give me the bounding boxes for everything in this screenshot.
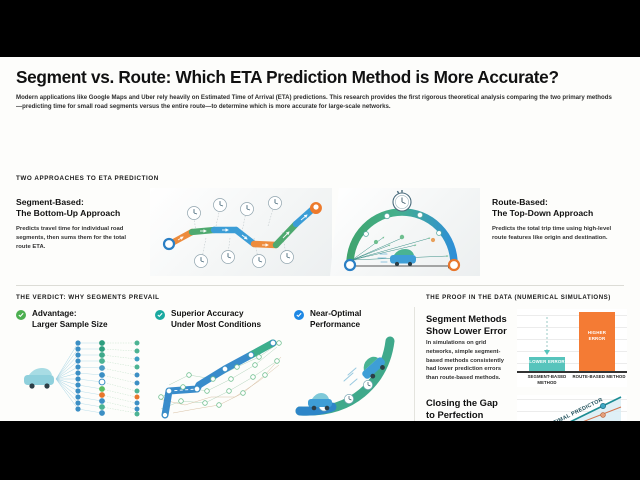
verdict-card-2-heading-line1: Superior Accuracy <box>171 309 261 320</box>
curved-road-cars-illustration <box>294 335 425 419</box>
page-title: Segment vs. Route: Which ETA Prediction … <box>16 67 628 88</box>
section-label-approaches: TWO APPROACHES TO ETA PREDICTION <box>16 175 159 182</box>
verdict-card-sample-size: Advantage: Larger Sample Size <box>16 309 147 421</box>
proof-block-2-heading-line1: Closing the Gap <box>426 397 522 409</box>
segment-approach-heading: Segment-Based: The Bottom-Up Approach <box>16 197 146 219</box>
page-subtitle: Modern applications like Google Maps and… <box>16 93 616 112</box>
proof-block-2-heading: Closing the Gap to Perfection <box>426 397 522 421</box>
letterbox-top <box>0 0 640 57</box>
path-through-network-illustration <box>155 335 286 419</box>
bar-chart-prediction-error: LOWER ERROR HIGHER ERROR SEGMENT-BASED M… <box>517 309 627 387</box>
line-chart-closing-the-gap: OPTIMAL PREDICTOR SEGMENT-BASED METHOD R… <box>517 395 627 421</box>
proof-block-1-heading-line1: Segment Methods <box>426 313 522 325</box>
car-icon <box>24 368 54 389</box>
bar-tick-route: ROUTE-BASED METHOD <box>571 374 627 380</box>
verdict-card-1-heading: Advantage: Larger Sample Size <box>32 309 108 330</box>
letterbox-bottom <box>0 421 640 480</box>
check-circle-icon <box>294 310 304 320</box>
verdict-card-3-heading-line1: Near-Optimal <box>310 309 361 320</box>
bar-tick-segment: SEGMENT-BASED METHOD <box>519 374 575 385</box>
verdict-card-2-heading: Superior Accuracy Under Most Conditions <box>171 309 261 330</box>
bar-chart-axis <box>517 371 627 373</box>
section-label-proof: THE PROOF IN THE DATA (NUMERICAL SIMULAT… <box>426 294 611 301</box>
check-circle-icon <box>16 310 26 320</box>
section-label-verdict: THE VERDICT: WHY SEGMENTS PREVAIL <box>16 294 160 301</box>
screenshot-stage: Segment vs. Route: Which ETA Prediction … <box>0 0 640 480</box>
route-approach-body: Predicts the total trip time using high-… <box>492 225 622 243</box>
proof-block-1-body: In simulations on grid networks, simple … <box>426 339 514 383</box>
proof-block-1-heading: Segment Methods Show Lower Error <box>426 313 522 337</box>
fan-out-network-illustration <box>16 335 147 419</box>
divider-vertical <box>414 307 415 421</box>
verdict-card-2-heading-line2: Under Most Conditions <box>171 320 261 331</box>
verdict-card-superior-accuracy: Superior Accuracy Under Most Conditions <box>155 309 286 421</box>
check-circle-icon <box>155 310 165 320</box>
segment-approach-illustration <box>150 188 332 276</box>
route-approach-heading-line2: The Top-Down Approach <box>492 208 632 219</box>
verdict-card-3-heading-line2: Performance <box>310 320 361 331</box>
segment-approach-body: Predicts travel time for individual road… <box>16 225 138 252</box>
verdict-card-1-heading-line1: Advantage: <box>32 309 108 320</box>
proof-block-2-heading-line2: to Perfection <box>426 409 522 421</box>
proof-block-1-heading-line2: Show Lower Error <box>426 325 522 337</box>
route-approach-heading-line1: Route-Based: <box>492 197 632 208</box>
divider-approaches <box>16 285 624 286</box>
verdict-card-1-heading-line2: Larger Sample Size <box>32 320 108 331</box>
segment-approach-heading-line2: The Bottom-Up Approach <box>16 208 146 219</box>
infographic-sheet: Segment vs. Route: Which ETA Prediction … <box>0 57 640 421</box>
route-approach-heading: Route-Based: The Top-Down Approach <box>492 197 632 219</box>
route-approach-illustration <box>330 188 480 276</box>
verdict-card-near-optimal: Near-Optimal Performance <box>294 309 425 421</box>
verdict-card-3-heading: Near-Optimal Performance <box>310 309 361 330</box>
segment-approach-heading-line1: Segment-Based: <box>16 197 146 208</box>
